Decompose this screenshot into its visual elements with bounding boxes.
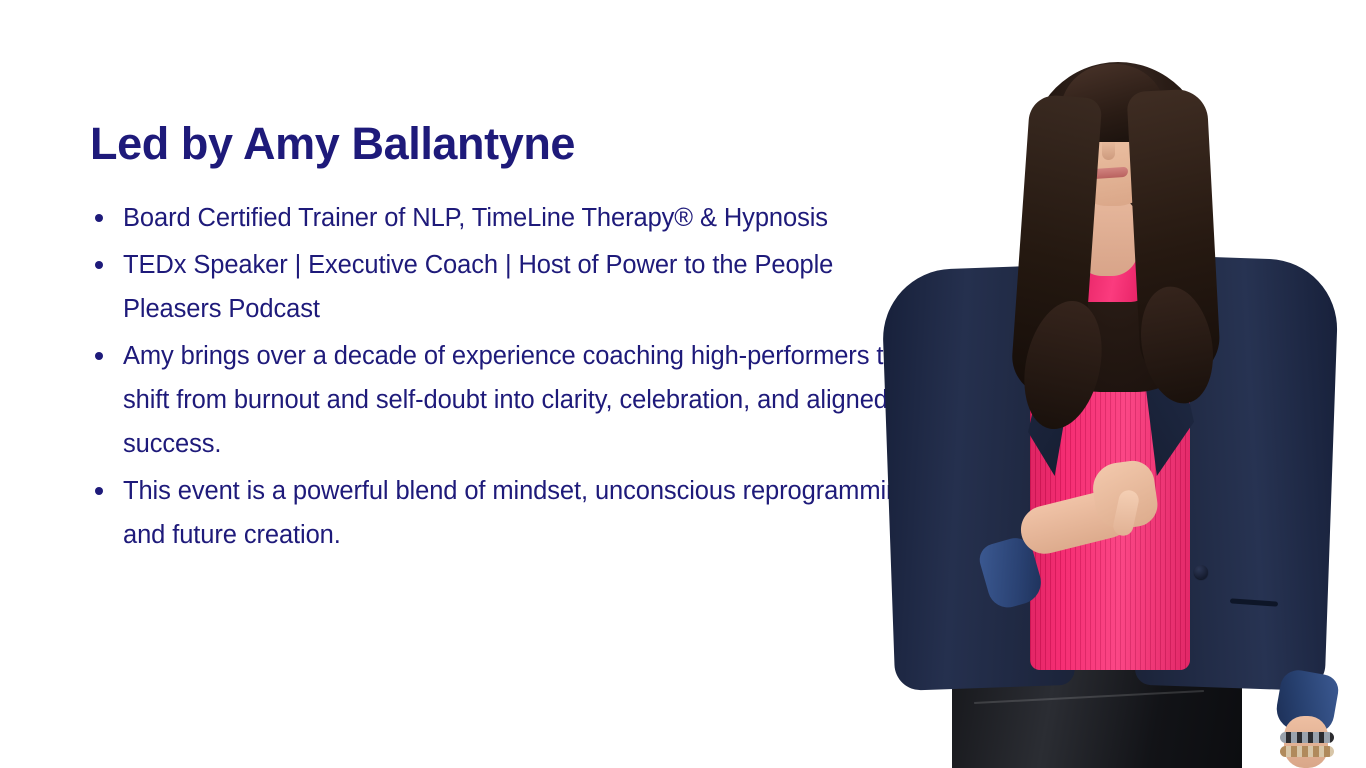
page-title: Led by Amy Ballantyne <box>90 118 930 170</box>
blazer-button <box>1194 565 1208 579</box>
bracelet-upper <box>1280 732 1334 743</box>
list-item-text: Amy brings over a decade of experience c… <box>123 342 897 458</box>
bracelet-lower <box>1280 746 1334 757</box>
list-item: TEDx Speaker | Executive Coach | Host of… <box>90 243 930 331</box>
text-column: Led by Amy Ballantyne Board Certified Tr… <box>90 118 930 560</box>
list-item: Board Certified Trainer of NLP, TimeLine… <box>90 196 930 240</box>
list-item: This event is a powerful blend of mindse… <box>90 469 930 557</box>
nose <box>1102 140 1115 160</box>
list-item: Amy brings over a decade of experience c… <box>90 334 930 466</box>
list-item-text: This event is a powerful blend of mindse… <box>123 477 921 549</box>
list-item-text: Board Certified Trainer of NLP, TimeLine… <box>123 204 828 232</box>
list-item-text: TEDx Speaker | Executive Coach | Host of… <box>123 251 833 323</box>
bullet-dot-icon <box>95 214 103 222</box>
portrait-image <box>880 0 1366 768</box>
bullet-dot-icon <box>95 487 103 495</box>
bullet-dot-icon <box>95 261 103 269</box>
slide-canvas: Led by Amy Ballantyne Board Certified Tr… <box>0 0 1366 768</box>
credentials-list: Board Certified Trainer of NLP, TimeLine… <box>90 196 930 557</box>
bullet-dot-icon <box>95 352 103 360</box>
